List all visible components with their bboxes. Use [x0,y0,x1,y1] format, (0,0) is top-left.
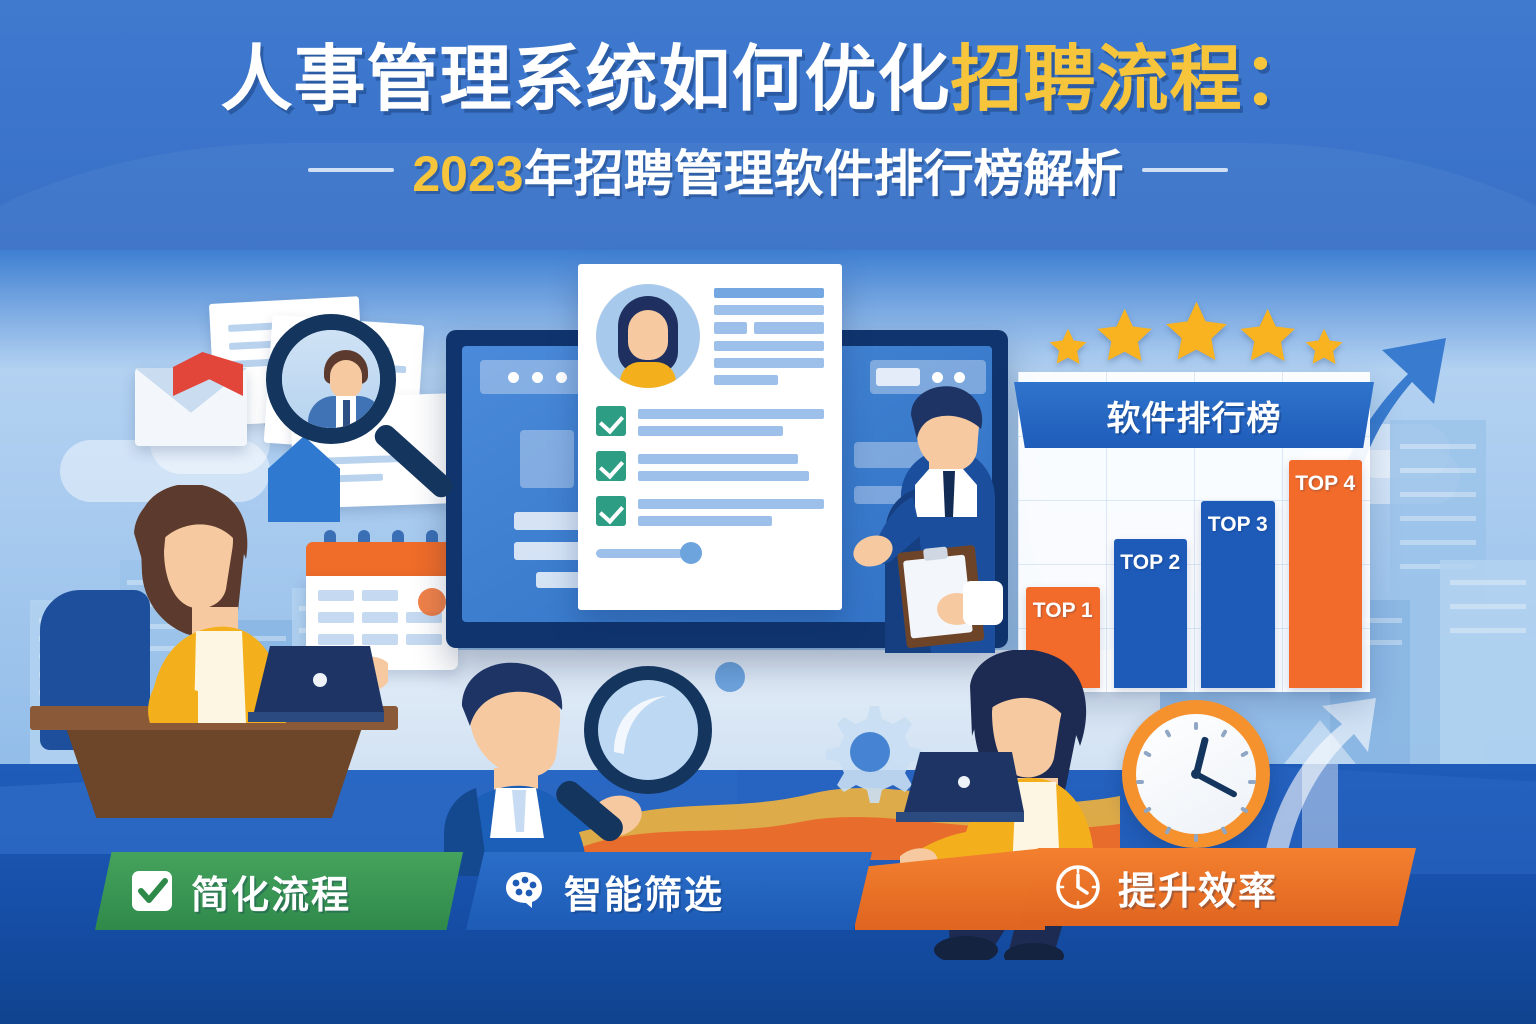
star-icon [1046,324,1090,370]
efficiency-clock-icon [1122,700,1270,848]
feature-banner-simplify[interactable]: 简化流程 [95,852,463,930]
laptop-left [248,642,384,728]
star-icon [1302,324,1346,370]
clock-tick [1143,750,1152,757]
resume-line [638,454,798,464]
resume-progress-slider[interactable] [596,542,824,564]
title-white-part: 人事管理系统如何优化 [220,40,950,120]
resume-checklist [596,406,824,526]
screen-row [536,572,582,588]
clock-tick [1194,722,1198,730]
clock-tick [1240,750,1249,757]
resume-line [638,409,824,419]
checklist-item [596,406,824,436]
clock-tick [1220,729,1227,738]
email-envelope-icon [135,368,247,446]
magnifier-ring [266,314,396,444]
ranking-banner-label: 软件排行榜 [1107,391,1282,440]
check-icon [596,451,626,481]
feature-banner-label: 提升效率 [1118,860,1278,915]
poster-canvas: 人事管理系统如何优化招聘流程： 2023年招聘管理软件排行榜解析 [0,0,1536,1024]
checklist-lines [638,496,824,526]
title-subtitle: 2023年招聘管理软件排行榜解析 [412,134,1123,206]
building-shape [1440,560,1536,790]
screen-row [514,512,584,530]
candidate-tie [343,400,350,430]
candidate-search-magnifier-icon [266,314,396,444]
slider-knob[interactable] [680,542,702,564]
feature-banner-smart-screen[interactable]: 智能筛选 [466,852,872,930]
resume-header [596,284,824,388]
resume-line [638,499,824,509]
star-icon [1160,294,1233,370]
feature-banner-label: 简化流程 [191,864,351,919]
laptop-right [896,748,1024,830]
resume-line [638,471,809,481]
screen-dot [932,372,943,383]
clock-icon [1054,863,1102,911]
brain-icon [500,867,548,915]
avatar-face [628,310,668,360]
resume-line [714,358,824,368]
chart-bar: TOP 4 [1289,460,1363,688]
screen-button [876,368,920,386]
clock-tick [1164,729,1171,738]
avatar-body [620,362,676,388]
screen-dot [532,372,543,383]
check-icon [596,406,626,436]
clock-center-pin [1191,769,1201,779]
subtitle-rest: 年招聘管理软件排行榜解析 [524,146,1124,202]
resume-header-lines [714,284,824,388]
checklist-lines [638,406,824,436]
resume-line [638,516,772,526]
check-icon [596,496,626,526]
chart-bar-label: TOP 2 [1120,551,1180,575]
desk-front-panel [30,730,398,818]
subtitle-row: 2023年招聘管理软件排行榜解析 [0,134,1536,206]
checklist-item [596,496,824,526]
clock-tick [1248,780,1256,784]
star-icon [1235,302,1300,370]
clock-minute-hand [1195,771,1238,798]
subtitle-year: 2023 [412,146,523,202]
candidate-avatar [596,284,700,388]
subtitle-rule-right [1142,168,1228,172]
slider-track [596,549,684,558]
candidate-resume-card [578,264,842,610]
resume-line [714,341,824,351]
chart-bar-label: TOP 4 [1295,472,1355,496]
checklist-item [596,451,824,481]
chart-bar-label: TOP 3 [1208,513,1268,537]
screen-dot [508,372,519,383]
chart-bar-label: TOP 1 [1033,599,1093,623]
resume-line [714,305,824,315]
poster-title-block: 人事管理系统如何优化招聘流程： 2023年招聘管理软件排行榜解析 [0,42,1536,206]
clock-tick [1194,834,1198,842]
chart-bar: TOP 3 [1201,501,1275,688]
title-highlight-part: 招聘流程： [951,40,1316,120]
ranking-banner: 软件排行榜 [1014,382,1374,448]
rating-stars [1046,300,1346,370]
screen-dot [954,372,965,383]
resume-line-row [714,322,824,334]
clock-tick [1136,780,1144,784]
recruiter-presenter-figure [845,385,1020,653]
feature-banner-label: 智能筛选 [564,864,724,919]
title-main-line: 人事管理系统如何优化招聘流程： [0,42,1536,120]
resume-line [714,288,824,298]
screen-panel [520,430,574,488]
star-icon [1092,302,1157,370]
calendar-highlight-date [418,588,446,616]
subtitle-rule-left [308,168,394,172]
resume-line [638,426,783,436]
checklist-lines [638,451,824,481]
clock-face [1136,714,1256,834]
feature-banner-efficiency[interactable]: 提升效率 [1020,848,1416,926]
checkbox-icon [129,868,175,914]
screen-dot [556,372,567,383]
candidate-face [330,360,362,398]
screening-magnifier-icon [540,656,730,846]
resume-line [714,375,778,385]
